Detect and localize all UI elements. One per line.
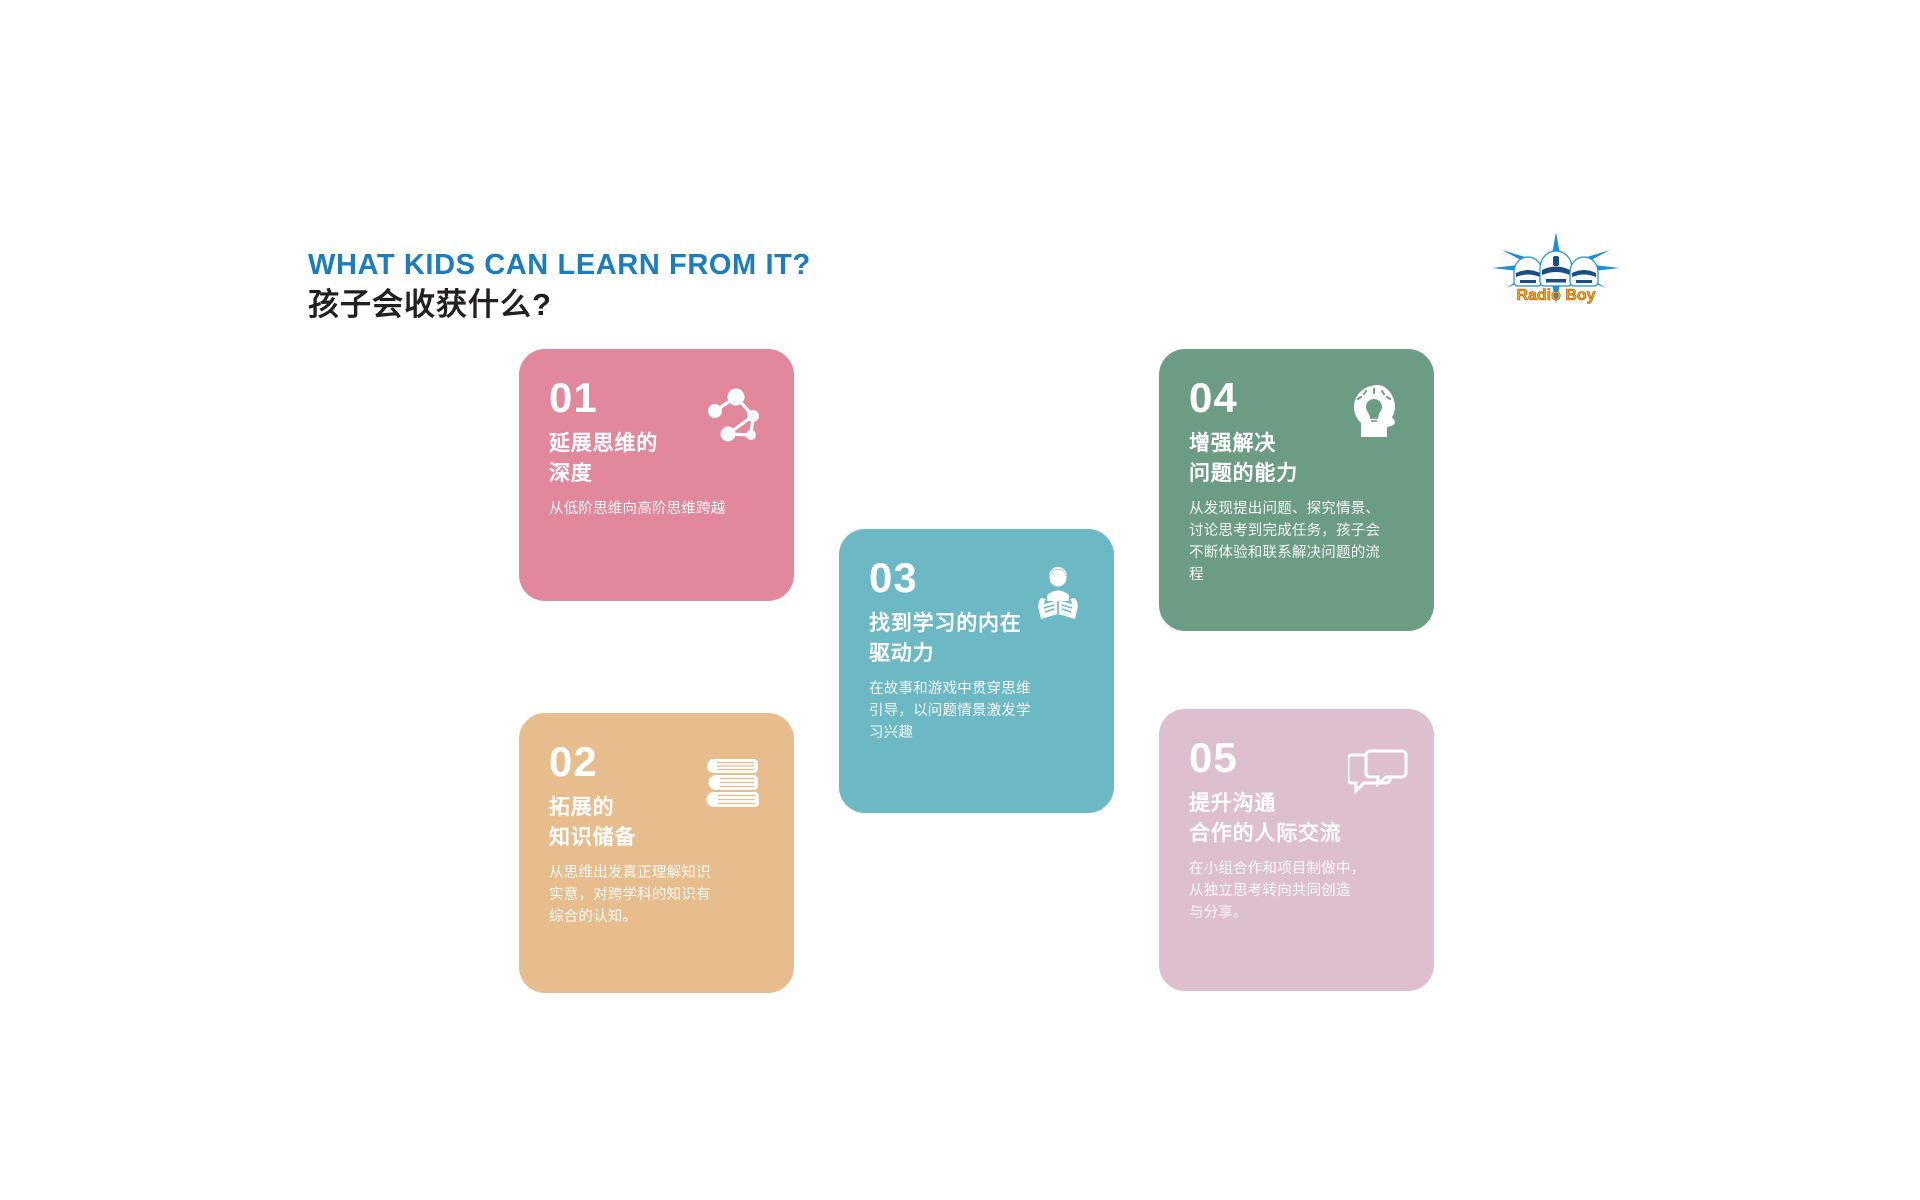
stacked-books-icon [704, 751, 766, 813]
person-reading-book-icon [1028, 565, 1088, 625]
page-title-english: WHAT KIDS CAN LEARN FROM IT? [308, 248, 811, 282]
card-02[interactable]: 02 拓展的 知识储备 从思维出发真正理解知识 实意，对跨学科的知识有 综合的认… [519, 713, 794, 993]
logo-wordmark: Radio Boy [1516, 287, 1595, 304]
card-01-description: 从低阶思维向高阶思维跨越 [549, 498, 764, 520]
card-04-description: 从发现提出问题、探究情景、 讨论思考到完成任务，孩子会 不断体验和联系解决问题的… [1189, 498, 1404, 586]
page-title-chinese: 孩子会收获什么? [308, 285, 811, 325]
card-01[interactable]: 01 延展思维的 深度 从低阶思维向高阶思维跨越 [519, 349, 794, 601]
card-03[interactable]: 03 找到学习的内在 驱动力 在故事和游戏中贯穿思维 引导，以问题情景激发学 习… [839, 529, 1114, 813]
card-05-description: 在小组合作和项目制做中， 从独立思考转向共同创造 与分享。 [1189, 858, 1404, 924]
card-03-description: 在故事和游戏中贯穿思维 引导，以问题情景激发学 习兴趣 [869, 678, 1084, 744]
card-04[interactable]: 04 增强解决 问题的能力 从发现提出问题、探究情景、 讨论思考到完成任务，孩子… [1159, 349, 1434, 631]
card-02-description: 从思维出发真正理解知识 实意，对跨学科的知识有 综合的认知。 [549, 862, 764, 928]
speech-bubbles-icon [1348, 749, 1408, 801]
radio-boy-logo: Radio Boy [1492, 232, 1620, 306]
slide-canvas: WHAT KIDS CAN LEARN FROM IT? 孩子会收获什么? [0, 0, 1920, 1200]
radio-boy-robots-logo: Radio Boy [1492, 232, 1620, 306]
head-lightbulb-icon [1348, 381, 1408, 443]
card-05[interactable]: 05 提升沟通 合作的人际交流 在小组合作和项目制做中， 从独立思考转向共同创造… [1159, 709, 1434, 991]
network-nodes-icon [706, 385, 768, 447]
heading-block: WHAT KIDS CAN LEARN FROM IT? 孩子会收获什么? [308, 248, 811, 326]
